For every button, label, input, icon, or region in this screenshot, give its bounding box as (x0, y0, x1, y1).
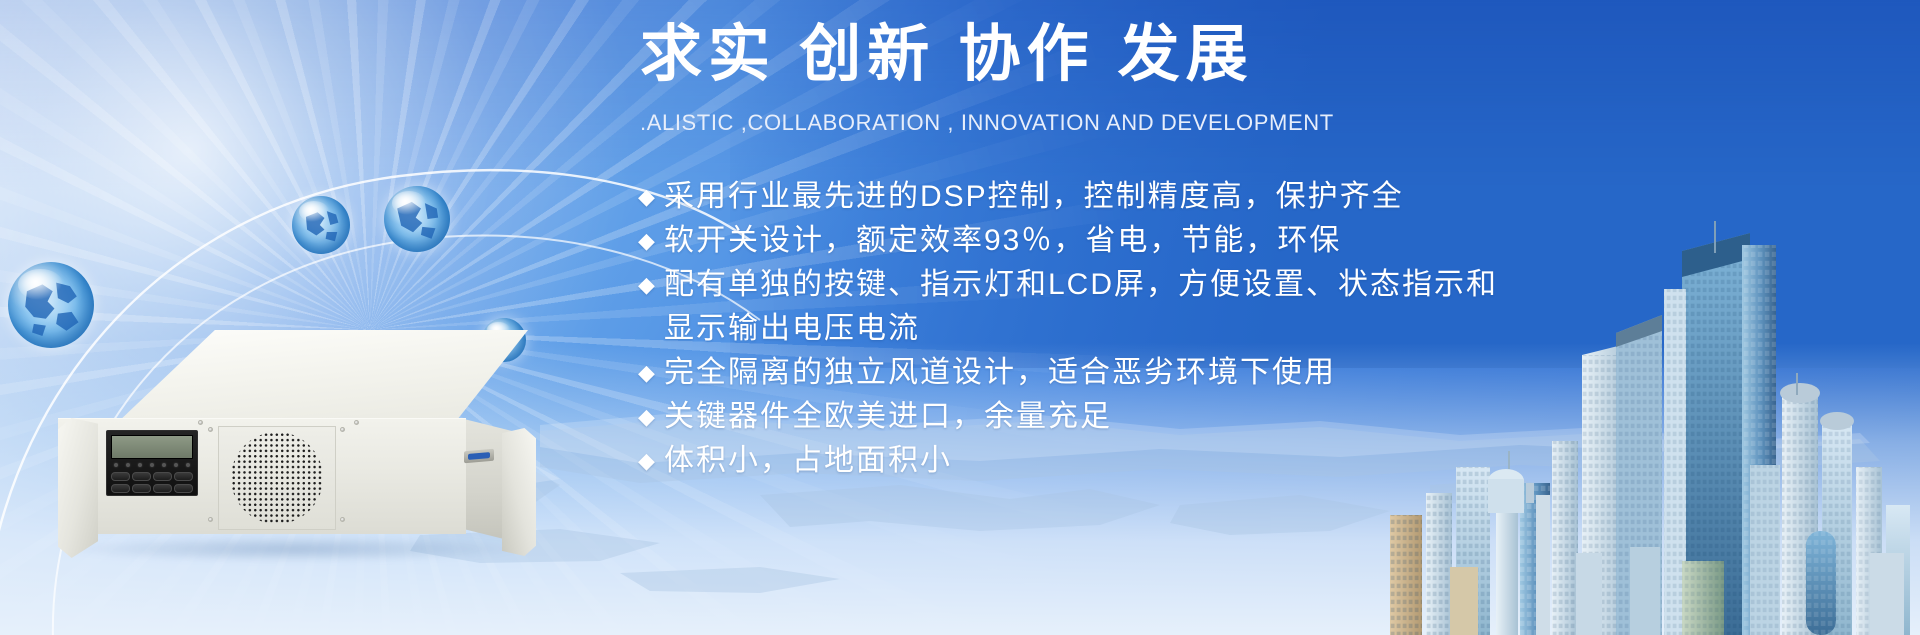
feature-text: 体积小，占地面积小 (664, 439, 1838, 483)
feature-text: 完全隔离的独立风道设计，适合恶劣环境下使用 (664, 351, 1838, 395)
keypad-button[interactable] (132, 484, 151, 493)
feature-item-continuation: ◆ 显示输出电压电流 (638, 307, 1838, 351)
lcd-display (111, 435, 193, 459)
bullet-diamond-icon: ◆ (638, 219, 664, 263)
feature-text: 关键器件全欧美进口，余量充足 (664, 395, 1838, 439)
bullet-diamond-icon: ◆ (638, 351, 664, 395)
rack-mount-ear-left (58, 418, 98, 558)
feature-text: 软开关设计，额定效率93％，省电，节能，环保 (664, 219, 1838, 263)
screw-icon (198, 420, 203, 425)
feature-item: ◆ 采用行业最先进的DSP控制，控制精度高，保护齐全 (638, 175, 1838, 219)
keypad-button-up[interactable] (153, 472, 172, 481)
led-indicator-row (111, 463, 193, 467)
screw-icon (354, 420, 359, 425)
bullet-diamond-icon: ◆ (638, 263, 664, 307)
feature-item: ◆ 配有单独的按键、指示灯和LCD屏，方便设置、状态指示和 (638, 263, 1838, 307)
keypad-button-enter[interactable] (174, 484, 193, 493)
bullet-diamond-icon: ◆ (638, 175, 664, 219)
device-control-panel[interactable] (106, 430, 198, 496)
feature-text: 显示输出电压电流 (664, 307, 1838, 351)
screw-icon (208, 517, 213, 522)
fan-vent-holes (231, 432, 323, 524)
keypad-button[interactable] (111, 484, 130, 493)
fan-grille (218, 426, 336, 530)
promotional-banner: 求实 创新 协作 发展 .ALISTIC ,COLLABORATION , IN… (0, 0, 1920, 635)
keypad-button[interactable] (174, 472, 193, 481)
feature-text: 采用行业最先进的DSP控制，控制精度高，保护齐全 (664, 175, 1838, 219)
feature-list: ◆ 采用行业最先进的DSP控制，控制精度高，保护齐全 ◆ 软开关设计，额定效率9… (638, 175, 1838, 483)
rack-mount-ear-right (502, 428, 536, 556)
led-indicator (162, 463, 166, 467)
device-top-panel (116, 330, 528, 424)
screw-icon (208, 427, 213, 432)
led-indicator (138, 463, 142, 467)
page-title: 求实 创新 协作 发展 (640, 22, 1340, 89)
device-keypad[interactable] (111, 472, 193, 493)
feature-item: ◆ 关键器件全欧美进口，余量充足 (638, 395, 1838, 439)
feature-item: ◆ 完全隔离的独立风道设计，适合恶劣环境下使用 (638, 351, 1838, 395)
keypad-button-down[interactable] (153, 484, 172, 493)
led-indicator (186, 463, 190, 467)
keypad-button[interactable] (111, 472, 130, 481)
screw-icon (340, 427, 345, 432)
bullet-diamond-icon: ◆ (638, 395, 664, 439)
feature-item: ◆ 软开关设计，额定效率93％，省电，节能，环保 (638, 219, 1838, 263)
led-indicator (174, 463, 178, 467)
feature-item: ◆ 体积小，占地面积小 (638, 439, 1838, 483)
page-subtitle: .ALISTIC ,COLLABORATION , INNOVATION AND… (640, 110, 1400, 136)
rackmount-power-supply-device (58, 330, 528, 580)
screw-icon (340, 517, 345, 522)
device-shadow (68, 536, 518, 562)
led-indicator (150, 463, 154, 467)
led-indicator (126, 463, 130, 467)
keypad-button[interactable] (132, 472, 151, 481)
led-indicator (114, 463, 118, 467)
bullet-diamond-icon: ◆ (638, 439, 664, 483)
feature-text: 配有单独的按键、指示灯和LCD屏，方便设置、状态指示和 (664, 263, 1838, 307)
